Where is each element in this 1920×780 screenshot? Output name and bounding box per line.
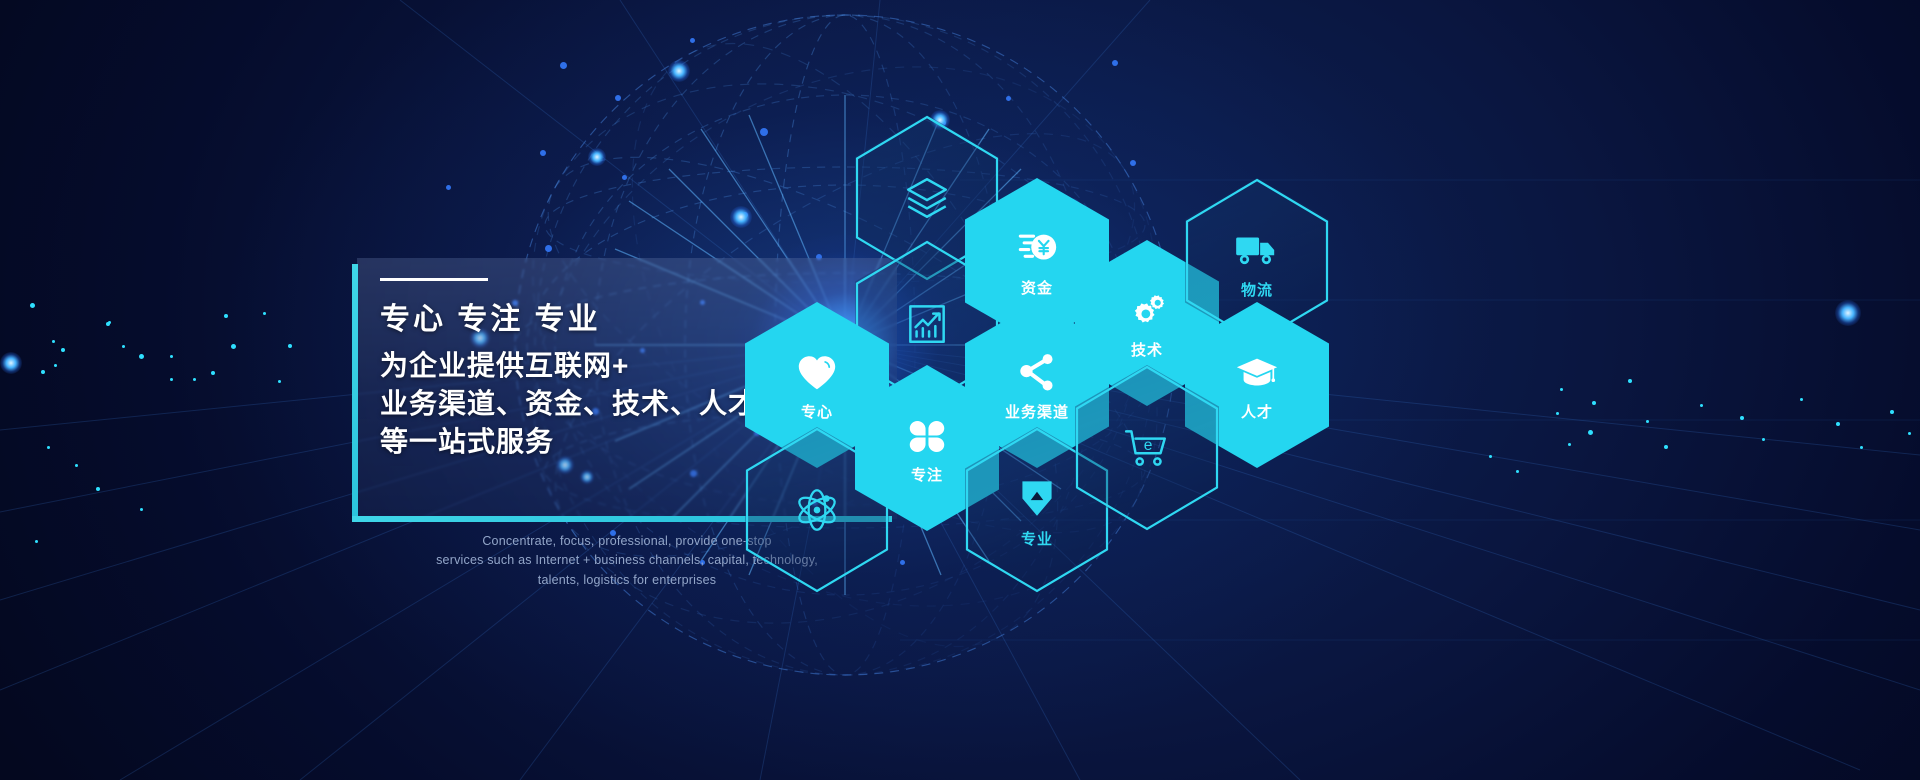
hexagon-label-logistics: 物流 bbox=[1241, 283, 1273, 298]
gears-icon bbox=[1124, 288, 1170, 334]
hexagon-label-tech: 技术 bbox=[1131, 343, 1163, 358]
hexagon-label-business-channel: 业务渠道 bbox=[1005, 405, 1069, 420]
hexagon-label-capital: 资金 bbox=[1021, 281, 1053, 296]
graduation-cap-icon bbox=[1234, 350, 1280, 396]
yen-coin-icon bbox=[1014, 226, 1060, 272]
panel-accent-bar-left bbox=[352, 264, 358, 522]
clover-icon bbox=[904, 413, 950, 459]
layers-icon bbox=[902, 173, 952, 223]
truck-icon bbox=[1232, 224, 1282, 274]
svg-text:e: e bbox=[1144, 437, 1153, 454]
cart-e-icon: e bbox=[1122, 423, 1172, 473]
diamond-icon bbox=[1012, 473, 1062, 523]
chart-growth-icon bbox=[902, 298, 952, 348]
atom-icon bbox=[792, 485, 842, 535]
hexagon-label-focus-clover: 专注 bbox=[911, 468, 943, 483]
title-rule bbox=[380, 278, 488, 281]
share-nodes-icon bbox=[1014, 350, 1060, 396]
hero-banner: 专心 专注 专业 为企业提供互联网+ 业务渠道、资金、技术、人才、物流 等一站式… bbox=[0, 0, 1920, 780]
heart-icon bbox=[794, 350, 840, 396]
hexagon-label-talent: 人才 bbox=[1241, 405, 1273, 420]
hexagon-label-professional: 专业 bbox=[1021, 532, 1053, 547]
hexagon-label-focus-heart: 专心 bbox=[801, 405, 833, 420]
